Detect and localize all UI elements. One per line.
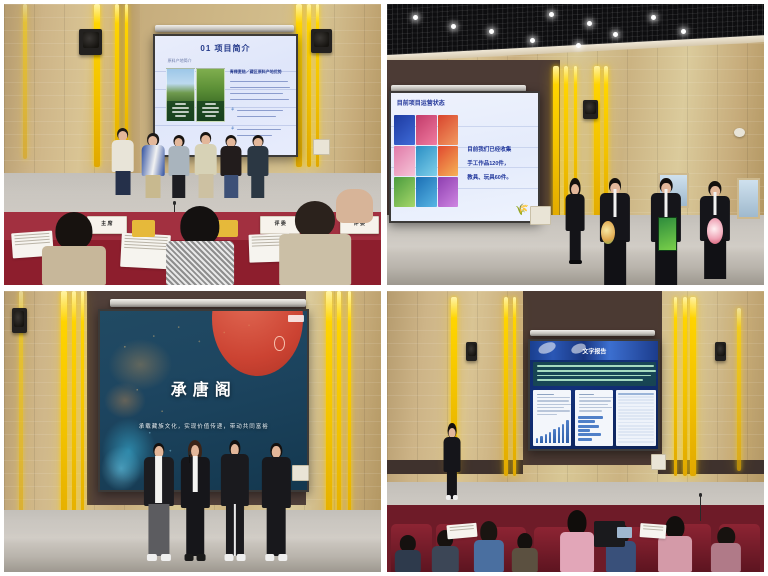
- light-strip-4: [690, 297, 696, 477]
- led-screen: 目前项目运营状态 目前我们已经收集 手工作品120件， 教: [391, 93, 538, 221]
- downlight-6: [587, 21, 592, 26]
- slide-photo-wheat-field: [196, 68, 225, 123]
- slide-banner: 文字报告: [530, 341, 658, 361]
- projector-valance: [530, 330, 654, 336]
- data-table: [618, 393, 653, 443]
- slide-body-line-2: 手工作品120件，: [467, 161, 509, 169]
- wall-window-2: [737, 178, 760, 219]
- slide-banner-title: 文字报告: [582, 346, 606, 355]
- round-ornament-prop: [707, 218, 723, 244]
- wall-speaker: [583, 100, 598, 120]
- light-strip-3: [513, 297, 516, 477]
- student-with-ornament: [700, 181, 730, 279]
- photo-collage: 01 项目简介 原料产地简介 青稞麦秸／藏区原料产地优势 ⚘: [0, 0, 768, 576]
- light-strip-7: [737, 308, 741, 471]
- downlight-4: [530, 38, 535, 43]
- panel-auditorium-wide: 文字报告: [387, 291, 764, 572]
- audience-member-5: [560, 510, 594, 572]
- audience-member-8: [711, 527, 741, 572]
- light-strip-1: [553, 66, 559, 223]
- judge-papers-2: [120, 233, 171, 269]
- slide-paragraph-block: [533, 362, 656, 386]
- slide-text-report: 文字报告: [530, 341, 658, 449]
- female-presenter: [566, 178, 585, 262]
- panel-chengtangge-title: 承唐阁 承载藏族文化，实现价值传递，带动共同富裕: [4, 291, 381, 572]
- wall-speaker-right: [715, 342, 726, 362]
- stage-presenter: [444, 423, 461, 499]
- light-strip-5: [683, 297, 687, 477]
- presenter-4: [194, 132, 217, 198]
- camera-viewfinder: [617, 527, 632, 538]
- wall-control-plate: [530, 206, 551, 225]
- slide-body-line-1: 目前我们已经收集: [467, 147, 511, 155]
- audience-member-3: [474, 521, 504, 572]
- wall-speaker-right: [311, 29, 332, 53]
- wall-control-plate: [292, 465, 309, 481]
- slide-operation-status: 目前项目运营状态 目前我们已经收集 手工作品120件， 教: [391, 93, 538, 221]
- judge-1: [42, 212, 106, 285]
- slide-title: 01 项目简介: [155, 43, 296, 54]
- student-with-flowers: [600, 178, 630, 285]
- led-wall-frame: 文字报告: [528, 339, 660, 451]
- slide-document-panels: [533, 390, 656, 446]
- light-strip-5: [307, 4, 311, 167]
- student-with-artwork: [651, 178, 681, 285]
- wall-speaker-left: [12, 308, 27, 333]
- slide-right-heading: 青稞麦秸／藏区原料产地优势: [230, 69, 282, 75]
- light-strip-6: [674, 297, 677, 477]
- doc-panel-survey-report: [533, 390, 571, 446]
- handheld-microphone: [189, 454, 190, 462]
- presenter-3: [168, 135, 189, 198]
- craft-photo-8: [416, 177, 437, 207]
- craft-photo-7: [394, 177, 415, 207]
- wall-speaker-left: [466, 342, 477, 362]
- wheat-sprig-icon: 🌾: [515, 203, 529, 216]
- craft-photo-6: [438, 146, 459, 176]
- craft-photo-1: [394, 115, 415, 145]
- presenter-2: [142, 133, 165, 198]
- audience-member-4: [511, 533, 537, 572]
- judge-raised-hand: [336, 189, 374, 223]
- wall-control-plate: [313, 139, 330, 155]
- projector-valance: [155, 25, 294, 32]
- slide-title: 目前项目运营状态: [397, 98, 445, 107]
- slide-title: 承唐阁: [100, 376, 307, 400]
- presenter-4: [262, 443, 290, 561]
- panel-operation-status: 目前项目运营状态 目前我们已经收集 手工作品120件， 教: [387, 4, 764, 285]
- wall-control-plate: [651, 454, 666, 470]
- presenter-6: [247, 135, 268, 198]
- light-strip-2: [504, 297, 508, 477]
- doc-panel-questionnaire: [575, 390, 613, 446]
- light-strip-7: [23, 4, 27, 159]
- presenter-2-speaker: [181, 440, 209, 561]
- presenter-1: [111, 128, 134, 195]
- bar-chart: [536, 420, 569, 443]
- presenter-1: [143, 443, 173, 561]
- craft-photo-2: [416, 115, 437, 145]
- downlight-8: [576, 43, 581, 48]
- slide-subtitle: 原料产地简介: [168, 58, 192, 64]
- wall-speaker-left: [79, 29, 102, 54]
- slide-body-line-3: 教具、玩具60件。: [467, 175, 512, 183]
- slide-photo-barley-field: [166, 68, 195, 123]
- downlight-2: [451, 24, 456, 29]
- doc-panel-data-table: [616, 390, 655, 446]
- judge-2: [166, 206, 234, 285]
- led-wall-screen: 文字报告: [530, 341, 658, 449]
- craft-photo-collage: [394, 115, 459, 207]
- slide-subtitle: 承载藏族文化，实现价值传递，带动共同富裕: [100, 422, 307, 430]
- presenter-5: [221, 135, 242, 198]
- craft-photo-9: [438, 177, 459, 207]
- ribbon-graphic-left: [537, 341, 557, 356]
- craft-photo-5: [416, 146, 437, 176]
- led-screen-frame: 目前项目运营状态 目前我们已经收集 手工作品120件， 教: [389, 91, 540, 223]
- audience-member-1: [395, 535, 421, 572]
- framed-artwork-prop: [658, 217, 677, 251]
- horizontal-bar-chart: [578, 415, 610, 441]
- audience-papers-2: [639, 523, 666, 539]
- projector-valance: [110, 299, 306, 306]
- leaf-icon: ⚘: [230, 107, 234, 113]
- snack-box-1: [132, 220, 155, 237]
- leaf-icon-2: ⚘: [230, 126, 234, 132]
- presenter-3: [221, 440, 249, 561]
- audience-microphone: [700, 496, 701, 521]
- panel-project-introduction: 01 项目简介 原料产地简介 青稞麦秸／藏区原料产地优势 ⚘: [4, 4, 381, 285]
- slide-logo: [288, 315, 305, 322]
- craft-photo-3: [438, 115, 459, 145]
- craft-photo-4: [394, 146, 415, 176]
